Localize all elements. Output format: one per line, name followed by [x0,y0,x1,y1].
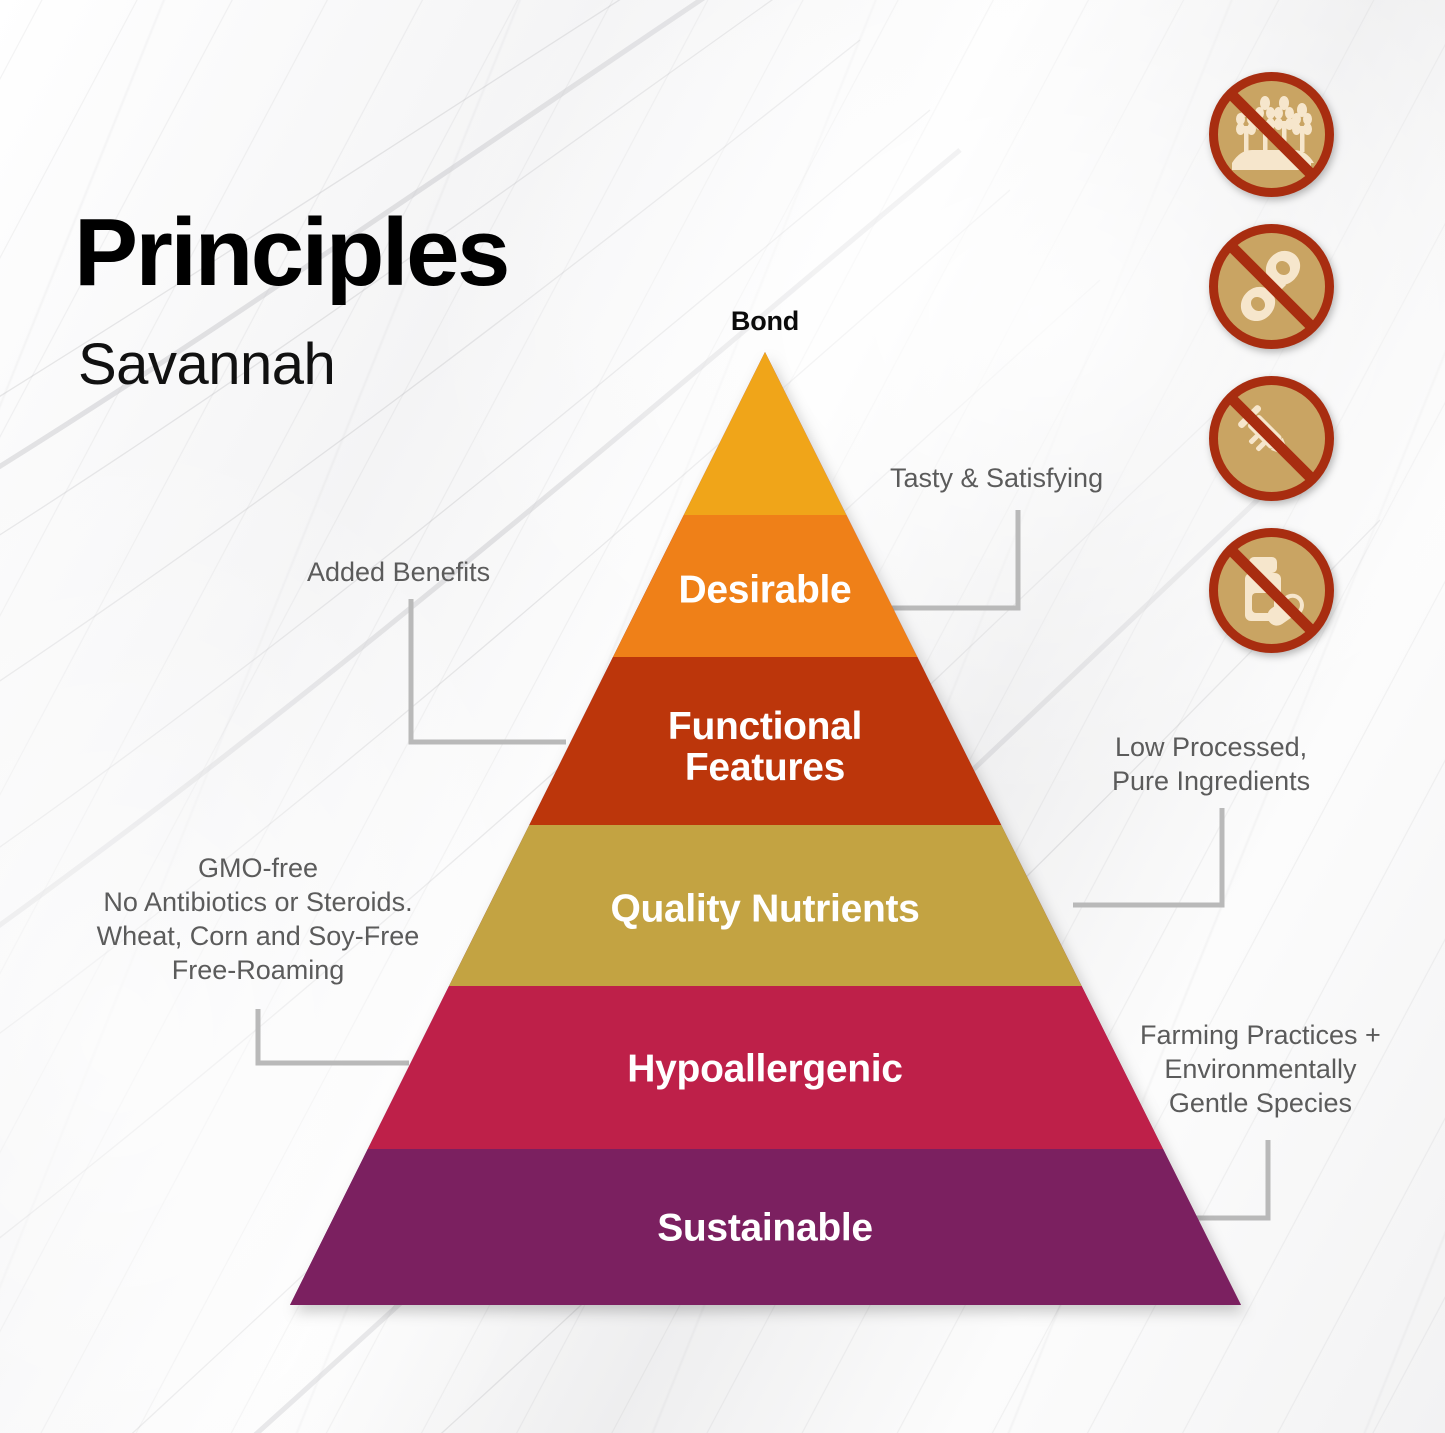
pyramid-apex-label: Bond [731,306,799,337]
infographic-canvas: Principles Savannah [0,0,1445,1433]
callout-tasty-satisfying: Tasty & Satisfying [890,461,1103,495]
no-gmo-icon [1205,220,1338,353]
certification-badges [1205,68,1338,676]
tier-label-functional: Functional Features [615,707,915,789]
no-medication-icon [1205,524,1338,657]
callout-added-benefits: Added Benefits [307,555,490,589]
callout-gmo-free: GMO-free No Antibiotics or Steroids. Whe… [78,851,438,987]
callout-low-processed: Low Processed, Pure Ingredients [1112,730,1310,798]
no-grain-icon [1205,68,1338,201]
tier-label-sustainable: Sustainable [657,1209,873,1250]
tier-label-desirable: Desirable [679,571,852,612]
tier-label-hypoallergenic: Hypoallergenic [627,1050,902,1091]
tier-top-accent [260,340,1290,515]
tier-label-quality: Quality Nutrients [610,890,919,931]
no-hormones-icon [1205,372,1338,505]
callout-farming-practices: Farming Practices + Environmentally Gent… [1140,1018,1381,1120]
